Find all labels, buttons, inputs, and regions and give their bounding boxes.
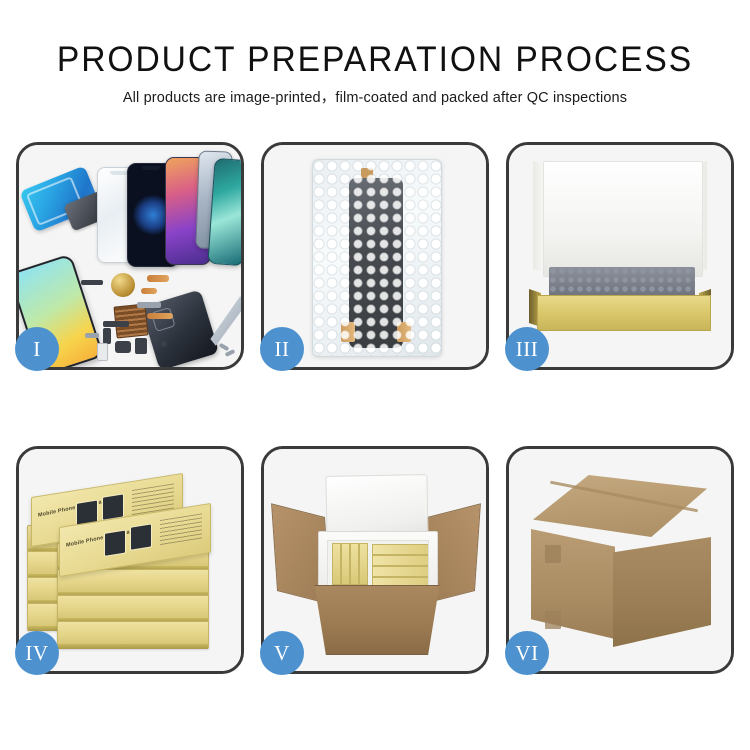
retail-box-label: Mobile Phone Spare Parts [38,498,110,519]
carton-tape-lower [545,611,561,629]
bubble-wrap-bag [312,159,442,357]
carton-front-panel [306,585,448,655]
page-subtitle: All products are image-printed，film-coat… [0,87,750,109]
box-spec-text [160,513,202,546]
step-badge-6: VI [505,631,549,675]
process-step-panel-5[interactable]: V [261,446,489,674]
box-window [104,529,126,556]
box-stack: Mobile Phone Spare Parts Mobile Phone Sp… [27,471,239,659]
screw [161,341,167,347]
process-step-panel-6[interactable]: VI [506,446,734,674]
box-white-lid [543,161,703,277]
spare-part [97,343,108,361]
step-badge-5: V [260,631,304,675]
spare-part [81,280,103,285]
page-title: PRODUCT PREPARATION PROCESS [15,40,735,80]
foam-box-cavity [327,540,429,586]
box-yellow-base [537,295,711,331]
spare-part [115,341,131,353]
page-header: PRODUCT PREPARATION PROCESS All products… [0,40,750,109]
process-step-panel-4[interactable]: Mobile Phone Spare Parts Mobile Phone Sp… [16,446,244,674]
tweezers-tool [208,293,241,348]
carton-tape-upper [545,545,561,563]
spare-part [147,313,173,319]
spare-part [103,328,111,344]
process-step-panel-1[interactable]: I [16,142,244,370]
process-step-panel-3[interactable]: III [506,142,734,370]
process-step-panel-2[interactable]: II [261,142,489,370]
spare-part [85,333,99,338]
screw [151,335,158,342]
spare-part [147,275,169,282]
speaker-module [111,273,135,297]
spare-part [137,302,161,308]
retail-box-label: Mobile Phone Spare Parts [66,528,138,549]
step-badge-4: IV [15,631,59,675]
step-badge-1: I [15,327,59,371]
process-step-grid: I II III [16,142,734,684]
screw [219,343,230,351]
step-badge-3: III [505,327,549,371]
box-window [130,523,152,550]
step-badge-2: II [260,327,304,371]
spare-part [103,321,129,327]
carton-left-face [531,529,615,639]
bubble-texture [313,160,441,356]
carton-right-face [613,537,711,647]
spare-part [141,288,157,294]
spare-part [135,338,147,354]
